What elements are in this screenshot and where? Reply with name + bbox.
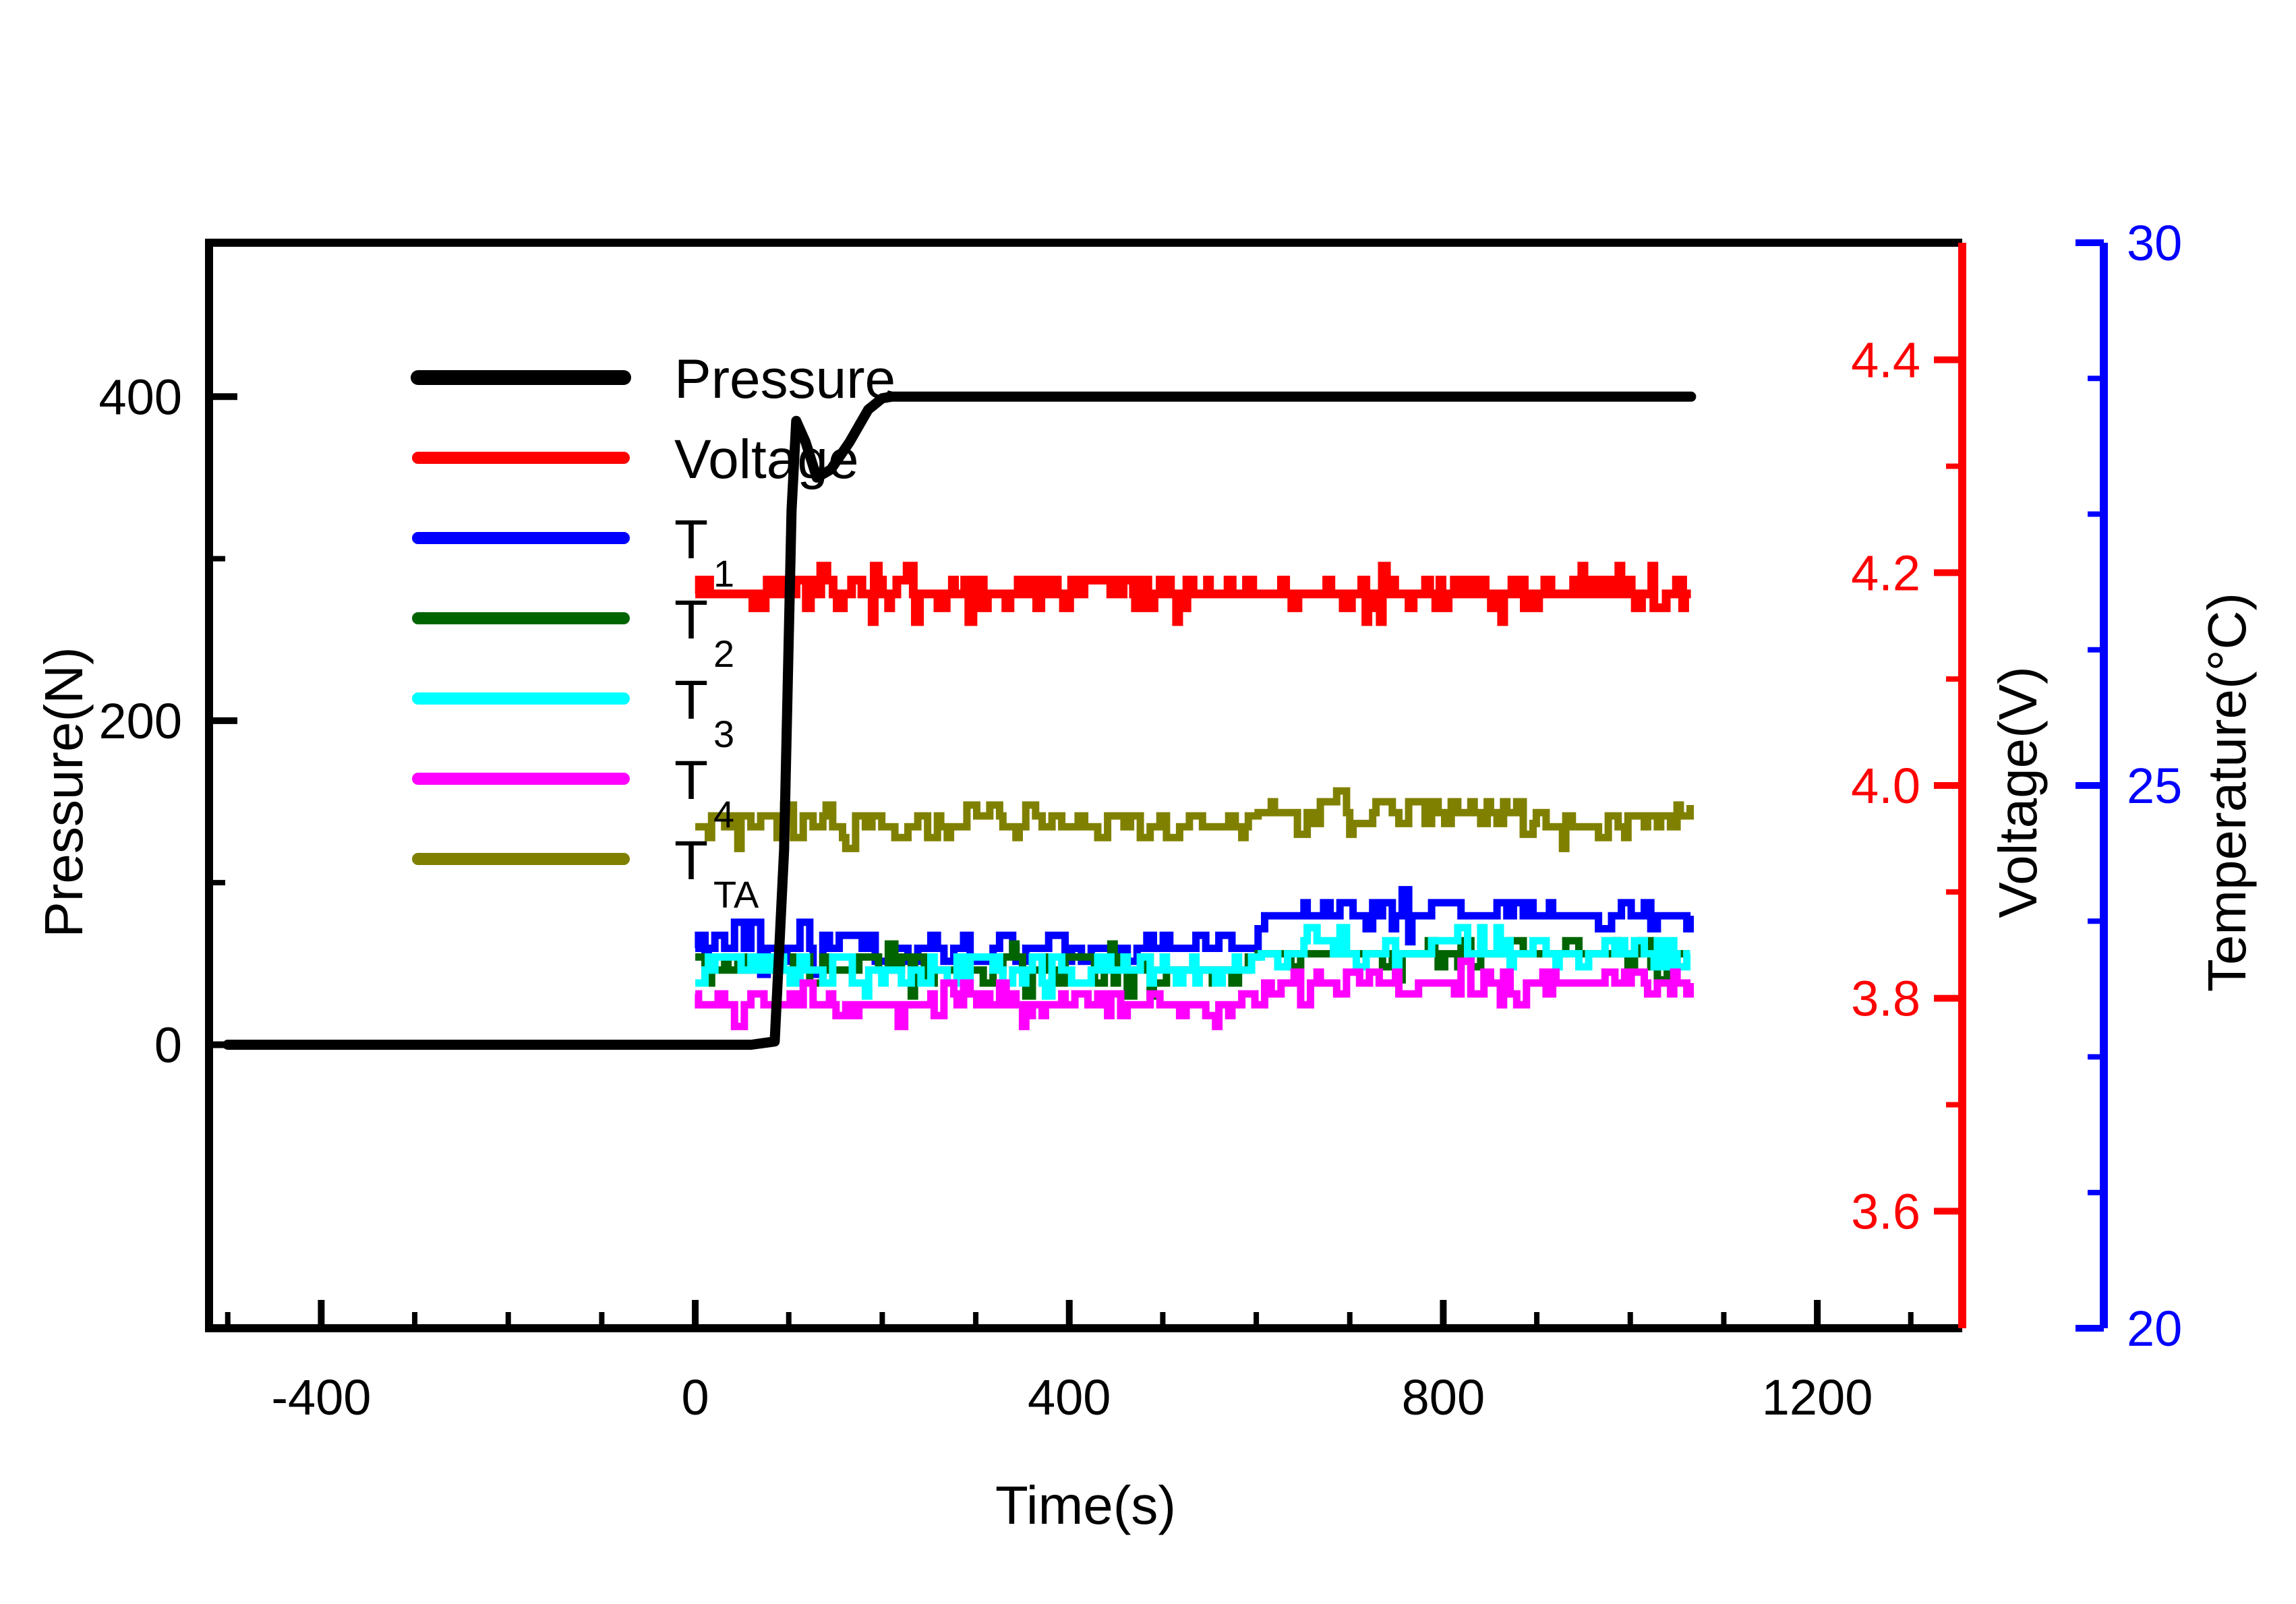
voltage-axis-title: Voltage(V) <box>1988 666 2048 918</box>
x-axis-tick-label: 400 <box>1028 1369 1111 1425</box>
legend-label-t4: T <box>674 750 708 811</box>
x-axis-title: Time(s) <box>995 1475 1176 1535</box>
temperature-axis-tick-label: 20 <box>2127 1301 2182 1357</box>
chart-figure: -40004008001200 0200400 3.63.84.04.24.4 … <box>0 0 2296 1604</box>
legend-sublabel-tta: TA <box>713 873 759 916</box>
x-axis-tick-label: 0 <box>681 1369 709 1425</box>
temperature-axis-tick-label: 30 <box>2127 215 2182 271</box>
voltage-axis-tick-label: 4.4 <box>1851 332 1920 388</box>
legend-label-voltage: Voltage <box>674 429 859 490</box>
legend-label-t2: T <box>674 589 708 651</box>
voltage-axis-tick-label: 4.0 <box>1851 758 1920 814</box>
left-axis-tick-label: 400 <box>99 369 182 425</box>
x-axis-tick-label: -400 <box>271 1369 371 1425</box>
multi-axis-timeseries-chart: -40004008001200 0200400 3.63.84.04.24.4 … <box>0 0 2296 1604</box>
voltage-axis-tick-label: 4.2 <box>1851 545 1920 601</box>
legend-sublabel-t1: 1 <box>713 552 734 595</box>
legend-label-t1: T <box>674 509 708 570</box>
legend-label-tta: T <box>674 830 708 891</box>
temperature-axis-tick-label: 25 <box>2127 758 2182 814</box>
legend-sublabel-t3: 3 <box>713 713 734 755</box>
x-axis-tick-label: 1200 <box>1762 1369 1873 1425</box>
x-axis-tick-label: 800 <box>1402 1369 1485 1425</box>
temperature-axis-title: Temperature(°C) <box>2197 593 2257 992</box>
legend-sublabel-t4: 4 <box>713 793 734 835</box>
voltage-axis-tick-label: 3.8 <box>1851 971 1920 1027</box>
left-axis-title: Pressure(N) <box>34 647 94 937</box>
voltage-axis-tick-label: 3.6 <box>1851 1183 1920 1239</box>
legend-sublabel-t2: 2 <box>713 632 734 675</box>
left-axis-tick-label: 0 <box>154 1017 182 1073</box>
legend-label-pressure: Pressure <box>674 349 895 410</box>
legend-label-t3: T <box>674 670 708 731</box>
left-axis-tick-label: 200 <box>99 693 182 749</box>
